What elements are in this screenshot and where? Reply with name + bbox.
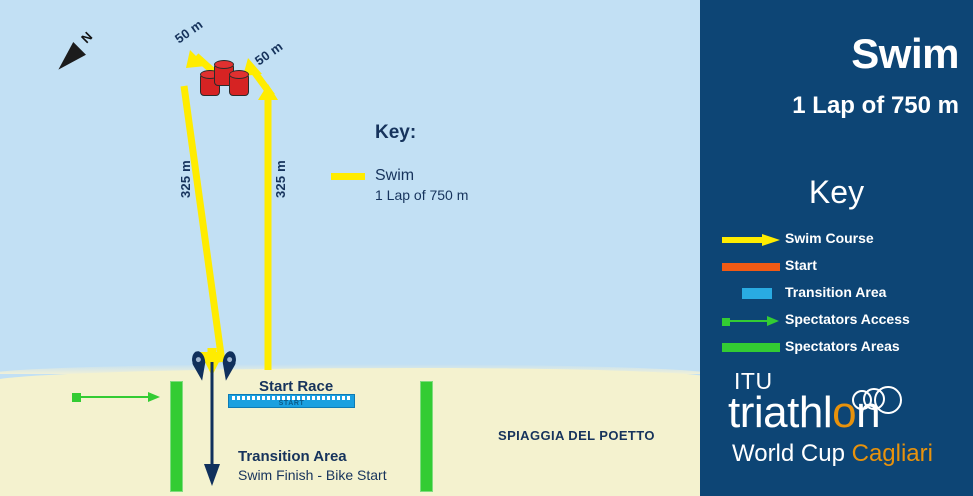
info-panel: Swim 1 Lap of 750 m Key Swim Course Star… <box>700 0 973 496</box>
start-race-label: Start Race <box>259 378 333 395</box>
key-row-spectators-access[interactable]: Spectators Access <box>700 309 973 336</box>
transition-subtitle: Swim Finish - Bike Start <box>238 466 387 485</box>
spectators-areas-icon <box>722 343 780 352</box>
spectators-access-icon <box>722 315 782 327</box>
map-key-item-swim: Swim 1 Lap of 750 m <box>375 166 635 204</box>
panel-key-heading: Key <box>700 174 973 211</box>
itu-triathlon-logo[interactable]: ITU triathlon World Cup Cagliari <box>700 368 973 478</box>
key-label-spectators-areas: Spectators Areas <box>785 338 900 354</box>
buoy-top-icon <box>229 70 249 79</box>
logo-worldcup-label: World Cup <box>732 440 852 467</box>
transition-area-caption: Transition Area Swim Finish - Bike Start <box>238 447 387 485</box>
access-arrowhead-icon <box>148 392 160 402</box>
map-canvas[interactable]: N 50 m 50 m 325 m 325 m <box>0 0 700 496</box>
spectators-area-left <box>170 381 183 492</box>
swim-swatch-icon <box>331 173 365 180</box>
map-key-item-label: Swim <box>375 166 635 186</box>
panel-subtitle: 1 Lap of 750 m <box>700 92 959 120</box>
map-key-title: Key: <box>375 122 416 144</box>
logo-rings-icon <box>852 386 898 416</box>
turn-buoy-right[interactable] <box>229 70 249 96</box>
map-inline-key: Key: Swim 1 Lap of 750 m <box>375 122 416 144</box>
map-key-item-detail: 1 Lap of 750 m <box>375 186 635 204</box>
spectators-area-right <box>420 381 433 492</box>
transition-title: Transition Area <box>238 447 387 466</box>
buoy-top-icon <box>214 60 234 69</box>
key-label-spectators-access: Spectators Access <box>785 311 910 327</box>
logo-worldcup-text: World Cup Cagliari <box>732 440 933 468</box>
swim-course-path <box>0 0 700 496</box>
logo-city-label: Cagliari <box>852 440 933 467</box>
key-label-swim-course: Swim Course <box>785 230 874 246</box>
distance-label-325m-left: 325 m <box>178 160 193 198</box>
spectators-access-arrow <box>72 390 162 404</box>
panel-title: Swim <box>700 30 959 78</box>
transition-bar-start-text: START <box>229 400 354 407</box>
key-row-transition-area[interactable]: Transition Area <box>700 282 973 309</box>
swim-course-map-page: N 50 m 50 m 325 m 325 m <box>0 0 973 496</box>
start-bar-icon <box>722 263 780 271</box>
key-row-spectators-areas[interactable]: Spectators Areas <box>700 336 973 363</box>
transition-bar-icon <box>742 288 772 299</box>
transition-area-bar: START <box>228 394 355 408</box>
key-row-swim-course[interactable]: Swim Course <box>700 228 973 255</box>
access-line-icon <box>80 396 152 398</box>
swim-course-arrow-icon <box>722 234 780 246</box>
distance-label-325m-right: 325 m <box>273 160 288 198</box>
logo-triathlon-part1: triathl <box>728 388 832 437</box>
key-label-start: Start <box>785 257 817 273</box>
beach-name-label: SPIAGGIA DEL POETTO <box>498 428 655 443</box>
key-row-start[interactable]: Start <box>700 255 973 282</box>
panel-key-list: Swim Course Start Transition Area Specta… <box>700 228 973 363</box>
key-label-transition-area: Transition Area <box>785 284 886 300</box>
